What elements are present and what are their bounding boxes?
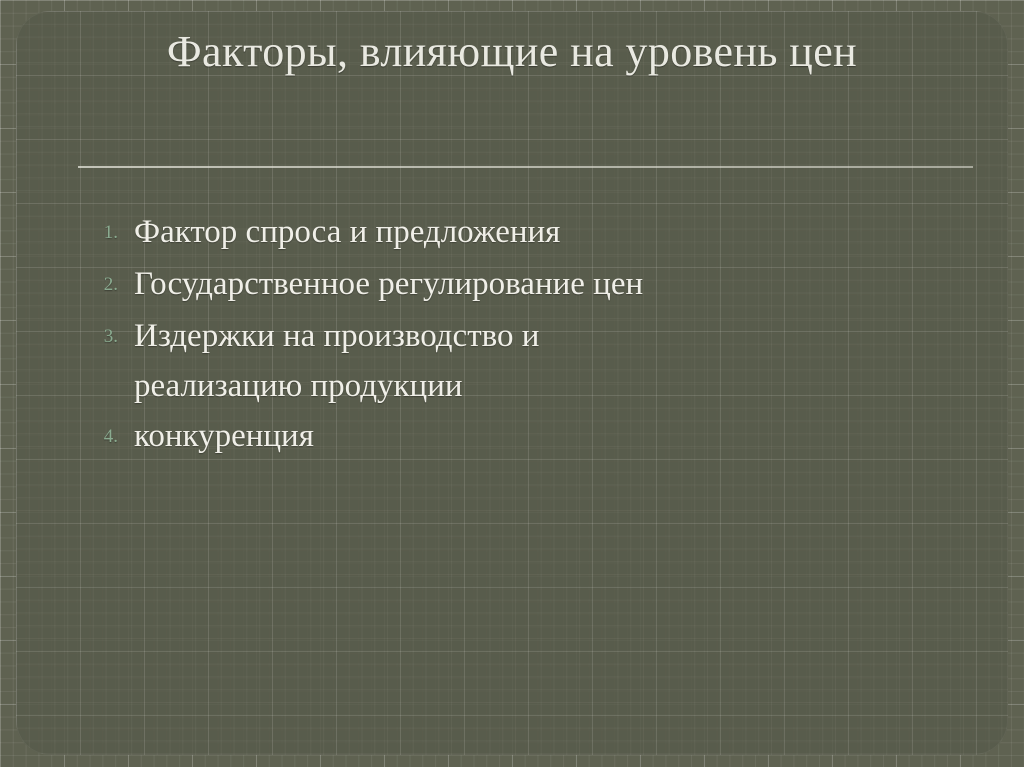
- list-marker: 2.: [72, 259, 134, 311]
- list-item: 2. Государственное регулирование цен: [72, 259, 972, 311]
- page-title: Факторы, влияющие на уровень цен: [56, 25, 968, 80]
- list-item-line: Издержки на производство и: [134, 318, 539, 354]
- list-item-line: Государственное регулирование цен: [134, 266, 643, 302]
- list-item-text: Фактор спроса и предложения: [134, 207, 972, 257]
- list-item-text: Издержки на производство и реализацию пр…: [134, 311, 972, 411]
- numbered-list: 1. Фактор спроса и предложения 2. Госуда…: [72, 207, 972, 463]
- list-item-line-wrapped: реализацию продукции: [134, 361, 972, 411]
- list-item: 3. Издержки на производство и реализацию…: [72, 311, 972, 411]
- list-marker: 3.: [72, 311, 134, 363]
- list-item-text: Государственное регулирование цен: [134, 259, 972, 309]
- list-item-text: конкуренция: [134, 411, 972, 461]
- list-marker: 4.: [72, 411, 134, 463]
- slide-panel: Факторы, влияющие на уровень цен 1. Факт…: [16, 11, 1008, 755]
- slide-canvas: Факторы, влияющие на уровень цен 1. Факт…: [0, 0, 1024, 767]
- list-item: 1. Фактор спроса и предложения: [72, 207, 972, 259]
- list-marker: 1.: [72, 207, 134, 259]
- title-divider: [78, 166, 973, 168]
- list-item-line: Фактор спроса и предложения: [134, 214, 560, 250]
- list-item: 4. конкуренция: [72, 411, 972, 463]
- list-item-line: конкуренция: [134, 418, 314, 454]
